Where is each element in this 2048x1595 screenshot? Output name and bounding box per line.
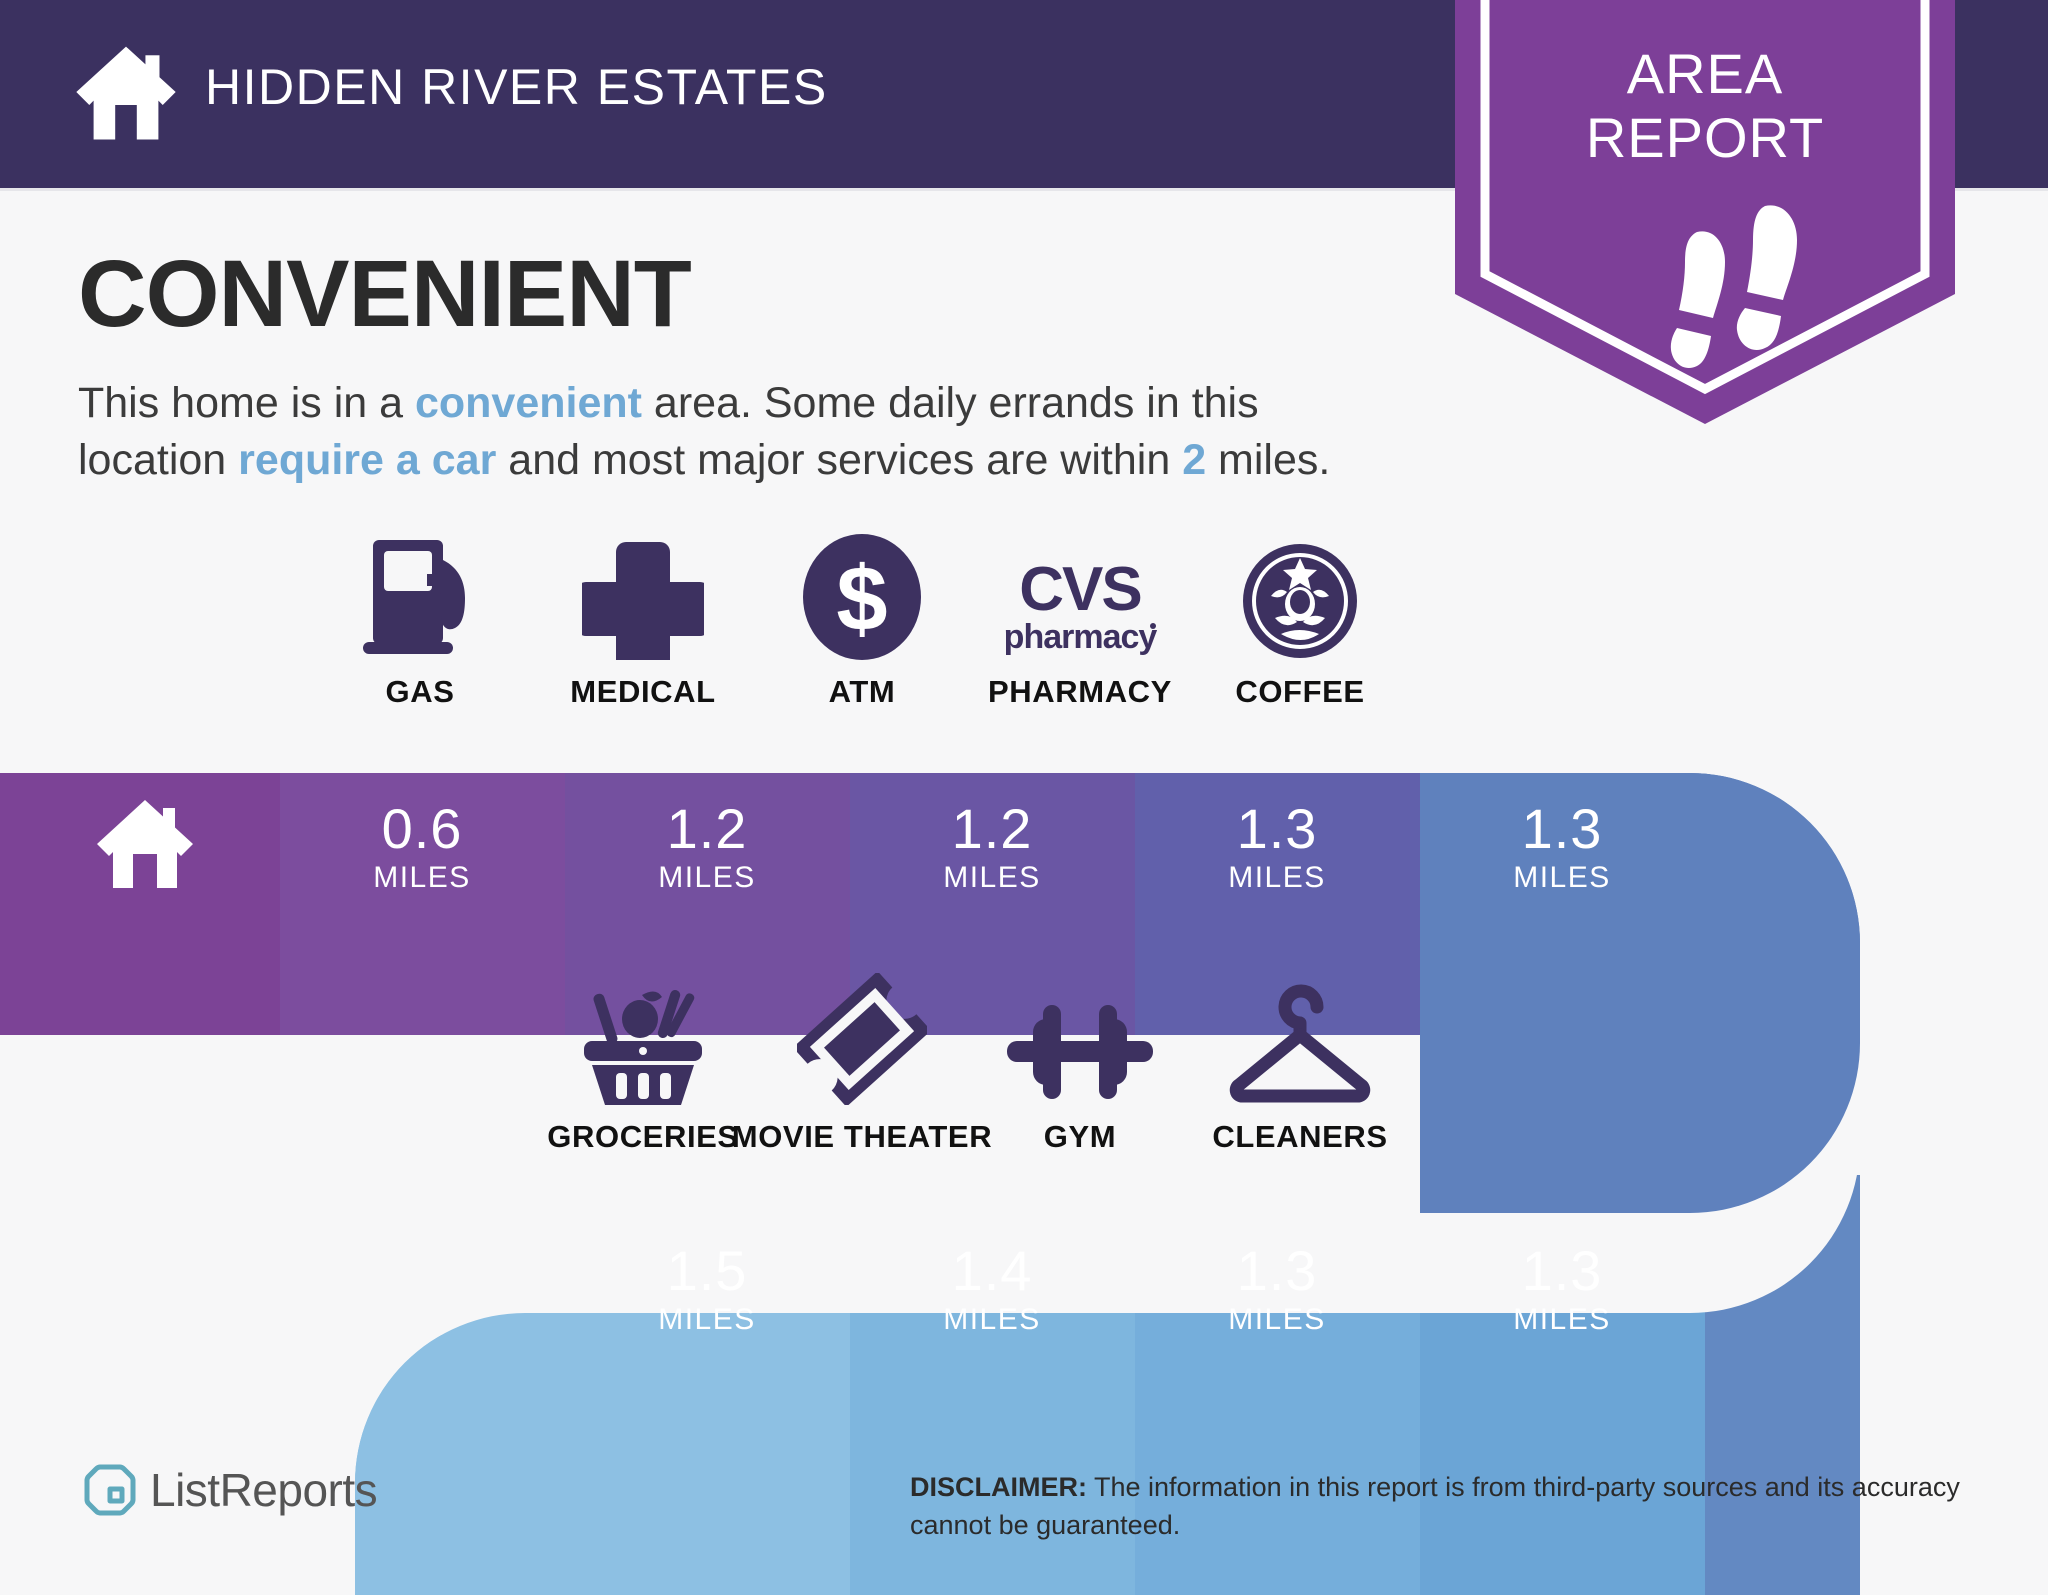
distance-value-cleaners: 1.3 MILES xyxy=(1420,1242,1704,1338)
desc-highlight-miles: 2 xyxy=(1182,436,1206,484)
desc-highlight-convenient: convenient xyxy=(415,379,642,427)
property-title: HIDDEN RIVER ESTATES xyxy=(205,58,828,116)
distance-value-coffee: 1.3 MILES xyxy=(1420,800,1704,896)
value-unit: MILES xyxy=(1420,1302,1704,1338)
value-number: 1.2 xyxy=(850,800,1134,858)
listreports-wordmark: ListReports xyxy=(150,1463,377,1517)
distance-value-atm: 1.2 MILES xyxy=(850,800,1134,896)
value-number: 1.2 xyxy=(565,800,849,858)
desc-part-4: miles. xyxy=(1206,436,1330,484)
desc-part-1: This home is in a xyxy=(78,379,415,427)
desc-part-3: and most major services are within xyxy=(496,436,1182,484)
service-coffee: COFFEE xyxy=(1165,530,1435,710)
home-marker-icon xyxy=(95,798,195,890)
value-number: 0.6 xyxy=(280,800,564,858)
value-number: 1.3 xyxy=(1135,1242,1419,1300)
value-unit: MILES xyxy=(280,860,564,896)
distance-value-gas: 0.6 MILES xyxy=(280,800,564,896)
distance-value-groceries: 1.5 MILES xyxy=(565,1242,849,1338)
cvs-pharmacy-logo: CVS pharmacy xyxy=(993,552,1168,660)
distance-value-medical: 1.2 MILES xyxy=(565,800,849,896)
value-number: 1.4 xyxy=(850,1242,1134,1300)
value-unit: MILES xyxy=(850,1302,1134,1338)
value-unit: MILES xyxy=(1135,1302,1419,1338)
value-number: 1.3 xyxy=(1420,1242,1704,1300)
distance-value-pharmacy: 1.3 MILES xyxy=(1135,800,1419,896)
clothes-hanger-icon xyxy=(1225,981,1375,1105)
svg-text:$: $ xyxy=(836,548,887,650)
badge-ribbon-shape xyxy=(1455,0,1955,434)
area-report-badge: AREA REPORT xyxy=(1455,0,1955,434)
disclaimer-label: DISCLAIMER: xyxy=(910,1472,1087,1502)
dollar-circle-icon: $ xyxy=(803,534,921,660)
value-number: 1.3 xyxy=(1420,800,1704,858)
value-unit: MILES xyxy=(850,860,1134,896)
distance-value-gym: 1.3 MILES xyxy=(1135,1242,1419,1338)
medical-cross-icon xyxy=(582,538,704,660)
distance-value-movie-theater: 1.4 MILES xyxy=(850,1242,1134,1338)
starbucks-logo xyxy=(1241,542,1359,660)
value-unit: MILES xyxy=(1135,860,1419,896)
house-icon xyxy=(72,36,180,148)
movie-ticket-icon xyxy=(797,973,927,1105)
listreports-house-icon xyxy=(80,1462,136,1518)
svg-text:CVS: CVS xyxy=(1019,555,1140,624)
value-unit: MILES xyxy=(1420,860,1704,896)
service-label: COFFEE xyxy=(1165,674,1435,710)
value-number: 1.5 xyxy=(565,1242,849,1300)
svg-text:pharmacy: pharmacy xyxy=(1003,618,1157,656)
listreports-logo[interactable]: ListReports xyxy=(80,1462,377,1518)
value-number: 1.3 xyxy=(1135,800,1419,858)
service-label: CLEANERS xyxy=(1165,1119,1435,1155)
dumbbell-icon xyxy=(1007,999,1153,1105)
disclaimer: DISCLAIMER: The information in this repo… xyxy=(910,1468,1970,1544)
description-text: This home is in a convenient area. Some … xyxy=(78,375,1418,489)
desc-highlight-require-car: require a car xyxy=(238,436,496,484)
page-title: CONVENIENT xyxy=(78,240,691,349)
service-cleaners: CLEANERS xyxy=(1165,975,1435,1155)
grocery-basket-icon xyxy=(572,975,714,1105)
gas-pump-icon xyxy=(355,532,485,660)
value-unit: MILES xyxy=(565,1302,849,1338)
value-unit: MILES xyxy=(565,860,849,896)
